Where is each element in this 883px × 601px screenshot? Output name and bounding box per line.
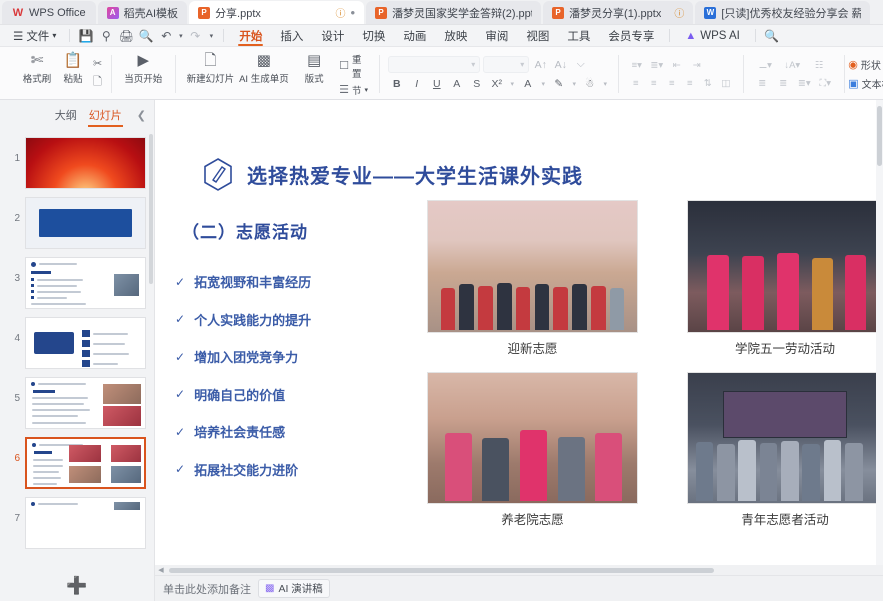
reset-button[interactable]: ☐ 重置: [339, 52, 370, 80]
check-icon: ✓: [175, 462, 185, 476]
divider: [755, 29, 756, 42]
ai-speech-button[interactable]: ▩ AI 演讲稿: [258, 579, 330, 598]
wps-logo-icon: W: [12, 7, 24, 19]
slide-number: 2: [4, 197, 20, 224]
slide-thumbnail-4[interactable]: 4: [0, 313, 154, 373]
photo-caption: 养老院志愿: [427, 509, 638, 528]
slide-navigator-panel: 大纲 幻灯片 ❮ 1 2 3: [0, 100, 155, 601]
status-bar: 单击此处添加备注 ▩ AI 演讲稿: [155, 575, 883, 601]
word-icon: W: [704, 7, 716, 19]
document-tab-panmengling-share[interactable]: P 潘梦灵分享(1).pptx ⓘ: [543, 1, 693, 24]
slide-preview: [25, 377, 146, 429]
paragraph-row-1: ≡▾ ≣▾ ⇤ ⇥: [627, 58, 734, 73]
bullets-icon[interactable]: ≡▾: [627, 58, 646, 73]
menu-bar: ☰ 文件 ▾ 💾 ⚲ 🖨 🔍 ↶ ▾ ↷ ▾ 开始 插入 设计 切换 动画 放映…: [0, 25, 883, 47]
bullet-item[interactable]: ✓ 增加入团党竞争力: [175, 347, 311, 366]
bullet-text: 增加入团党竞争力: [194, 347, 298, 366]
undo-dropdown-icon[interactable]: ▾: [176, 27, 185, 45]
bullet-text: 拓展社交能力进阶: [194, 460, 298, 479]
slide-preview: [25, 197, 146, 249]
ribbon-tab-animation[interactable]: 动画: [394, 25, 435, 46]
bullet-text: 个人实践能力的提升: [194, 310, 311, 329]
clipboard-small-buttons: ✂ 🗋: [91, 49, 102, 99]
start-from-current-button[interactable]: ▶ 当页开始: [120, 49, 166, 99]
align-center-icon[interactable]: ≡: [645, 76, 662, 91]
photo-caption: 学院五一劳动活动: [687, 338, 883, 357]
print-search-icon[interactable]: 🔍: [136, 27, 156, 45]
superscript-icon[interactable]: X²: [488, 76, 505, 92]
document-tab-share-pptx[interactable]: P 分享.pptx ⓘ •: [189, 1, 364, 24]
bold-icon[interactable]: B: [388, 76, 405, 92]
ribbon-group-paragraph-extra: ⚊▾ ↓A▾ ☷ ≣ ≣ ≣▾ ⛶▾: [743, 49, 844, 99]
ribbon-tab-review[interactable]: 审阅: [476, 25, 517, 46]
font-size-select[interactable]: ▾: [483, 56, 529, 73]
textbox-button[interactable]: ▣ 文本框 ▾: [848, 76, 883, 91]
format-painter-icon: ✄: [31, 53, 44, 69]
ribbon-group-slides: 🗋 新建幻灯片 ▩ AI 生成单页 ▤ 版式 ☐ 重置 ☰ 节 ▾: [175, 49, 379, 99]
slide-number: 3: [4, 257, 20, 284]
shape-icon: ◉: [848, 58, 858, 71]
font-grow-icon[interactable]: A↑: [532, 57, 549, 73]
photo-youth-volunteer-activity[interactable]: [687, 372, 883, 504]
slide-preview: [25, 137, 146, 189]
font-shrink-icon[interactable]: A↓: [552, 57, 569, 73]
slide-thumbnail-2[interactable]: 2: [0, 193, 154, 253]
numbering-icon[interactable]: ≣▾: [647, 58, 666, 73]
chevron-down-icon[interactable]: ▾: [601, 76, 609, 92]
slide-thumbnail-7[interactable]: 7: [0, 493, 154, 553]
bullet-item[interactable]: ✓ 明确自己的价值: [175, 385, 311, 404]
font-color-icon[interactable]: A: [519, 76, 536, 92]
underline-icon[interactable]: U: [428, 76, 445, 92]
text-effect-icon[interactable]: ☃: [581, 76, 598, 92]
format-painter-button[interactable]: ✄ 格式刷: [19, 49, 55, 99]
ribbon-tab-tools[interactable]: 工具: [558, 25, 599, 46]
tab-slides[interactable]: 幻灯片: [88, 105, 123, 125]
ai-speech-label: AI 演讲稿: [278, 581, 322, 596]
align-text-icon[interactable]: ↓A▾: [779, 58, 805, 73]
scroll-left-icon[interactable]: ◀: [155, 566, 167, 574]
ribbon-tab-slideshow[interactable]: 放映: [435, 25, 476, 46]
wps-ai-button[interactable]: ▲ WPS AI: [676, 25, 749, 46]
redo-icon: ↷: [185, 27, 205, 45]
divider: [69, 29, 70, 42]
ribbon-tab-view[interactable]: 视图: [517, 25, 558, 46]
slide-preview: [25, 257, 146, 309]
new-slide-button[interactable]: 🗋 新建幻灯片: [184, 49, 236, 99]
ai-template-icon: A: [107, 7, 119, 19]
check-icon: ✓: [175, 275, 185, 289]
document-tab-bar: W WPS Office A 稻壳AI模板 P 分享.pptx ⓘ • P 潘梦…: [0, 0, 883, 25]
chevron-left-icon[interactable]: ❮: [133, 109, 146, 122]
slide-preview: [25, 437, 146, 489]
slide-preview: [25, 497, 146, 549]
slide-preview: [25, 317, 146, 369]
photo-caption: 迎新志愿: [427, 338, 638, 357]
more-dropdown-icon[interactable]: ▾: [205, 27, 217, 45]
document-tab-scholarship-defense[interactable]: P 潘梦灵国家奖学金答辩(2).pptx: [366, 1, 541, 24]
highlight-icon[interactable]: ✎: [550, 76, 567, 92]
document-tab-alumni-readonly[interactable]: W [只读]优秀校友经验分享会 薪火相: [695, 1, 870, 24]
file-menu-label: 文件: [26, 28, 49, 44]
copy-button[interactable]: 🗋: [93, 73, 102, 92]
font-family-select[interactable]: ▾: [388, 56, 480, 73]
ribbon-tab-insert[interactable]: 插入: [271, 25, 312, 46]
bullet-text: 明确自己的价值: [194, 385, 285, 404]
bullet-list[interactable]: ✓ 拓宽视野和丰富经历 ✓ 个人实践能力的提升 ✓ 增加入团党竞争力 ✓ 明确自…: [175, 272, 311, 479]
align-right-icon[interactable]: ≡: [663, 76, 680, 91]
slide-thumbnail-1[interactable]: 1: [0, 133, 154, 193]
chevron-down-icon[interactable]: ▾: [570, 76, 578, 92]
play-icon: ▶: [137, 53, 149, 69]
divider: [669, 29, 670, 42]
slide-title-block[interactable]: 选择热爱专业——大学生活课外实践: [203, 158, 583, 191]
photo-welcome-volunteers[interactable]: [427, 200, 638, 333]
save-icon[interactable]: 💾: [76, 27, 96, 45]
slide-number: 4: [4, 317, 20, 344]
ribbon-tab-home[interactable]: 开始: [230, 25, 271, 46]
ribbon-group-font: ▾ ▾ A↑ A↓ ⌵ B I U A S X² ▾ A ▾ ✎ ▾ ☃ ▾: [379, 49, 618, 99]
paste-icon: 📋: [64, 53, 83, 69]
canvas-vertical-scrollbar[interactable]: [876, 100, 883, 601]
chevron-down-icon[interactable]: ▾: [539, 76, 547, 92]
canvas-horizontal-scrollbar[interactable]: ◀: [155, 565, 883, 575]
photo-caption: 青年志愿者活动: [687, 509, 883, 528]
print-icon[interactable]: 🖨: [116, 27, 136, 45]
paragraph-extra-row-2: ≣ ≣ ≣▾ ⛶▾: [752, 76, 835, 91]
wps-presentation-window: W WPS Office A 稻壳AI模板 P 分享.pptx ⓘ • P 潘梦…: [0, 0, 883, 601]
chevron-down-icon: ▾: [52, 31, 56, 40]
photo-nursing-home-volunteer[interactable]: [427, 372, 638, 504]
text-direction-icon[interactable]: ⚊▾: [752, 58, 778, 73]
warning-icon[interactable]: ⓘ: [336, 5, 346, 20]
document-tab-label: 分享.pptx: [215, 5, 261, 21]
bullet-item[interactable]: ✓ 拓宽视野和丰富经历: [175, 272, 311, 291]
bullet-item[interactable]: ✓ 拓展社交能力进阶: [175, 460, 311, 479]
ribbon-tab-member[interactable]: 会员专享: [599, 25, 663, 46]
paragraph-row-2: ≡ ≡ ≡ ≡ ⇅ ◫: [627, 76, 734, 91]
document-tab-label: 潘梦灵分享(1).pptx: [569, 5, 661, 21]
photo-labor-day-activity[interactable]: [687, 200, 883, 333]
clear-format-icon[interactable]: ⌵: [572, 57, 589, 73]
slide-thumbnail-3[interactable]: 3: [0, 253, 154, 313]
cut-button[interactable]: ✂: [93, 57, 102, 70]
slide-thumbnail-6[interactable]: 6: [0, 433, 154, 493]
check-icon: ✓: [175, 312, 185, 326]
align-left-icon[interactable]: ≡: [627, 76, 644, 91]
slides-small-buttons: ☐ 重置 ☰ 节 ▾: [337, 49, 370, 99]
section-icon: ☰: [339, 83, 349, 96]
new-slide-icon: 🗋: [204, 53, 216, 69]
smartart-icon[interactable]: ☷: [806, 58, 832, 73]
pencil-hexagon-icon: [203, 158, 233, 191]
hamburger-icon: ☰: [13, 29, 23, 43]
chevron-down-icon: ▾: [520, 60, 524, 69]
wps-ai-icon: ▲: [685, 30, 696, 42]
ribbon-tab-transition[interactable]: 切换: [353, 25, 394, 46]
multilevel-icon[interactable]: ≣: [773, 76, 793, 91]
slide-subtitle[interactable]: （二）志愿活动: [182, 218, 308, 243]
current-slide[interactable]: 选择热爱专业——大学生活课外实践 （二）志愿活动 ✓ 拓宽视野和丰富经历 ✓ 个…: [155, 100, 883, 555]
numbered-list-icon[interactable]: ≣: [752, 76, 772, 91]
shape-button[interactable]: ◉ 形状 ▾: [848, 57, 883, 72]
increase-indent-icon[interactable]: ⇥: [687, 58, 706, 73]
tab-outline[interactable]: 大纲: [54, 105, 78, 125]
add-slide-button[interactable]: ➕: [0, 571, 154, 601]
search-icon[interactable]: 🔍: [762, 27, 782, 45]
file-menu-button[interactable]: ☰ 文件 ▾: [6, 27, 63, 45]
list-style-icon[interactable]: ≣▾: [794, 76, 814, 91]
shadow-icon[interactable]: A: [448, 76, 465, 92]
plus-icon: ➕: [66, 576, 87, 596]
ribbon-tab-design[interactable]: 设计: [312, 25, 353, 46]
scrollbar-thumb[interactable]: [877, 106, 882, 166]
check-icon: ✓: [175, 350, 185, 364]
print-preview-icon[interactable]: ⚲: [96, 27, 116, 45]
paragraph-extra-row-1: ⚊▾ ↓A▾ ☷: [752, 58, 835, 73]
layout-button[interactable]: ▤ 版式: [291, 49, 337, 99]
strikethrough-icon[interactable]: S: [468, 76, 485, 92]
slide-title-text: 选择热爱专业——大学生活课外实践: [247, 160, 583, 189]
reset-icon: ☐: [339, 59, 349, 72]
warning-icon[interactable]: ⓘ: [674, 5, 684, 20]
ai-speech-icon: ▩: [265, 583, 274, 594]
editor-body: 大纲 幻灯片 ❮ 1 2 3: [0, 100, 883, 601]
decrease-indent-icon[interactable]: ⇤: [667, 58, 686, 73]
columns-icon[interactable]: ◫: [717, 76, 734, 91]
chevron-down-icon[interactable]: ▾: [508, 76, 516, 92]
slide-thumbnail-list[interactable]: 1 2 3: [0, 130, 154, 571]
bullet-item[interactable]: ✓ 个人实践能力的提升: [175, 310, 311, 329]
ribbon-group-present: ▶ 当页开始: [111, 49, 175, 99]
slide-thumbnail-5[interactable]: 5: [0, 373, 154, 433]
navigator-header: 大纲 幻灯片 ❮: [0, 100, 154, 130]
ribbon-toolbar: ✄ 格式刷 📋 粘贴 ✂ 🗋 ▶ 当页开始 🗋 新建幻灯片: [0, 47, 883, 100]
bullet-text: 拓宽视野和丰富经历: [194, 272, 311, 291]
ribbon-group-paragraph: ≡▾ ≣▾ ⇤ ⇥ ≡ ≡ ≡ ≡ ⇅ ◫: [618, 49, 743, 99]
shape-align-icon[interactable]: ⛶▾: [815, 76, 835, 91]
chevron-down-icon: ▾: [471, 60, 475, 69]
powerpoint-icon: P: [375, 7, 387, 19]
check-icon: ✓: [175, 387, 185, 401]
ribbon-group-clipboard: ✄ 格式刷 📋 粘贴 ✂ 🗋: [10, 49, 111, 99]
wps-office-home-tab[interactable]: W WPS Office: [2, 1, 96, 24]
notes-placeholder[interactable]: 单击此处添加备注: [163, 581, 251, 597]
line-spacing-icon[interactable]: ⇅: [699, 76, 716, 91]
paste-button[interactable]: 📋 粘贴: [55, 49, 91, 99]
check-icon: ✓: [175, 425, 185, 439]
document-tab-ai-template[interactable]: A 稻壳AI模板: [98, 1, 187, 24]
slide-number: 1: [4, 137, 20, 164]
slide-canvas[interactable]: 选择热爱专业——大学生活课外实践 （二）志愿活动 ✓ 拓宽视野和丰富经历 ✓ 个…: [155, 100, 883, 601]
chevron-down-icon: ▾: [365, 86, 369, 94]
powerpoint-icon: P: [198, 7, 210, 19]
textbox-icon: ▣: [848, 77, 858, 90]
bullet-item[interactable]: ✓ 培养社会责任感: [175, 422, 311, 441]
document-tab-label: [只读]优秀校友经验分享会 薪火相: [721, 5, 861, 21]
wps-office-home-label: WPS Office: [29, 7, 86, 19]
layout-icon: ▤: [307, 53, 321, 69]
slide-number: 6: [4, 437, 20, 464]
section-button[interactable]: ☰ 节 ▾: [339, 83, 370, 97]
undo-icon[interactable]: ↶: [156, 27, 176, 45]
ai-slide-icon: ▩: [257, 53, 271, 69]
cut-icon: ✂: [93, 57, 102, 70]
justify-icon[interactable]: ≡: [681, 76, 698, 91]
document-tab-label: 稻壳AI模板: [124, 5, 178, 21]
navigator-scrollbar[interactable]: [149, 134, 153, 284]
slide-number: 7: [4, 497, 20, 524]
divider: [223, 29, 224, 42]
scrollbar-thumb[interactable]: [169, 568, 714, 573]
slide-number: 5: [4, 377, 20, 404]
wps-ai-label: WPS AI: [700, 30, 740, 42]
bullet-text: 培养社会责任感: [194, 422, 285, 441]
document-tab-label: 潘梦灵国家奖学金答辩(2).pptx: [392, 5, 532, 21]
powerpoint-icon: P: [552, 7, 564, 19]
ai-generate-slide-button[interactable]: ▩ AI 生成单页: [237, 49, 291, 99]
italic-icon[interactable]: I: [408, 76, 425, 92]
copy-icon: 🗋: [93, 73, 102, 92]
ribbon-group-insert: ◉ 形状 ▾ ⛶ 图片 ▾ ◻ ▾ ▣ 文本框 ▾: [844, 49, 883, 99]
